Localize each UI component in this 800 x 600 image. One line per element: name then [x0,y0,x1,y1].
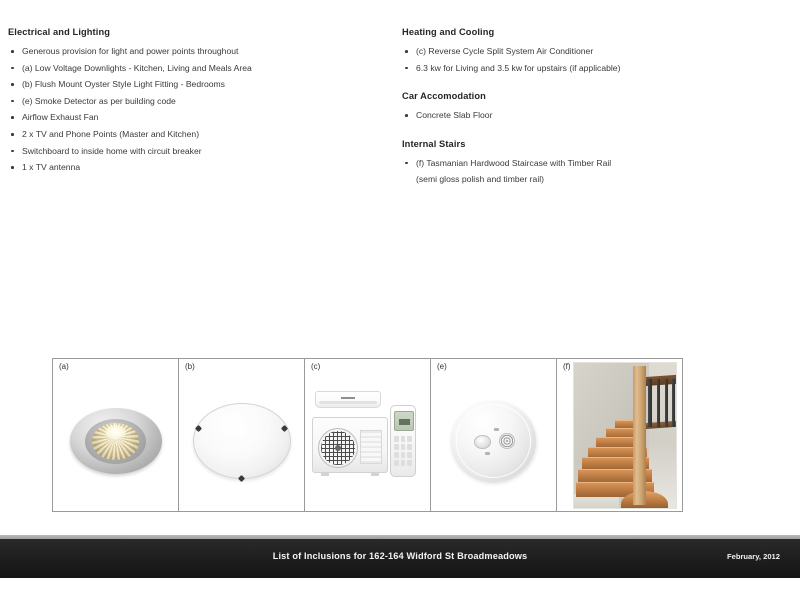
section-internal-stairs: Internal Stairs (f) Tasmanian Hardwood S… [402,138,732,188]
air-conditioner-image [305,359,430,511]
section-heating-and-cooling: Heating and Cooling (c) Reverse Cycle Sp… [402,26,732,76]
bullet-dot-icon [405,114,408,117]
smoke-detector-image [431,359,556,511]
condenser-foot [371,472,379,476]
condenser-vent-icon [360,430,382,464]
list-item-label: (f) Tasmanian Hardwood Staircase with Ti… [416,158,611,168]
oyster-light-image [179,359,304,511]
list-item-label: Concrete Slab Floor [416,110,492,120]
list-item: 6.3 kw for Living and 3.5 kw for upstair… [402,60,732,77]
list-item: Switchboard to inside home with circuit … [8,143,388,160]
section-heading: Heating and Cooling [402,26,732,39]
downlight-highlight [105,425,126,439]
bullet-dot-icon [11,133,14,136]
panel-oyster-light-fitting: (b) [179,359,305,511]
list-item: Concrete Slab Floor [402,107,732,124]
bullet-dot-icon [11,100,14,103]
remote-key [394,444,399,450]
bullet-dot-icon [11,67,14,70]
list-item-label: 1 x TV antenna [22,162,80,172]
downlight-fixture-icon [70,408,162,474]
list-item: (b) Flush Mount Oyster Style Light Fitti… [8,76,388,93]
panel-label: (e) [437,362,447,371]
panel-low-voltage-downlight: (a) [53,359,179,511]
list-item-label: Generous provision for light and power p… [22,46,238,56]
section-bullet-list: Concrete Slab Floor [402,107,732,124]
condenser-foot [321,472,329,476]
footer-title: List of Inclusions for 162-164 Widford S… [0,551,800,561]
panel-split-system-air-conditioner: (c) [305,359,431,511]
remote-control-icon [390,405,416,477]
section-heading: Internal Stairs [402,138,732,151]
remote-key [407,444,412,450]
left-column: Electrical and Lighting Generous provisi… [8,26,388,176]
bullet-dot-icon [405,162,408,165]
remote-key [394,436,399,442]
list-item-label: (b) Flush Mount Oyster Style Light Fitti… [22,79,225,89]
footer-date: February, 2012 [727,552,780,561]
section-heading: Car Accomodation [402,90,732,103]
list-item-label: 2 x TV and Phone Points (Master and Kitc… [22,129,199,139]
baluster [665,379,668,427]
brand-mark [341,397,355,399]
smoke-detector-led [485,452,490,455]
remote-key [401,436,406,442]
bullet-dot-icon [11,116,14,119]
remote-key [394,460,399,466]
panel-timber-staircase: (f) [557,359,682,511]
condenser-fan-grille-icon [318,428,358,468]
list-item-label: 6.3 kw for Living and 3.5 kw for upstair… [416,63,620,73]
smoke-detector-rim [456,404,532,478]
product-image-strip: (a) (b) [52,358,683,512]
section-bullet-list: (f) Tasmanian Hardwood Staircase with Ti… [402,155,732,188]
remote-key [401,460,406,466]
oyster-light-icon [193,403,291,479]
bullet-dot-icon [11,166,14,169]
list-item-label: (a) Low Voltage Downlights - Kitchen, Li… [22,63,252,73]
baluster [648,379,651,427]
bullet-dot-icon [405,67,408,70]
list-item: Generous provision for light and power p… [8,43,388,60]
list-item: 1 x TV antenna [8,159,388,176]
bullet-dot-icon [11,150,14,153]
list-item: (f) Tasmanian Hardwood Staircase with Ti… [402,155,732,188]
oyster-clip-icon [238,475,245,482]
section-bullet-list: Generous provision for light and power p… [8,43,388,176]
bullet-dot-icon [405,50,408,53]
remote-key [401,452,406,458]
panel-smoke-detector: (e) [431,359,557,511]
right-column: Heating and Cooling (c) Reverse Cycle Sp… [402,26,732,188]
remote-key [407,436,412,442]
list-item: (c) Reverse Cycle Split System Air Condi… [402,43,732,60]
downlight-image [53,359,178,511]
section-car-accomodation: Car Accomodation Concrete Slab Floor [402,90,732,124]
baluster [672,379,675,427]
panel-label: (c) [311,362,320,371]
staircase-photo [573,362,677,509]
remote-key [407,452,412,458]
list-item-label: Switchboard to inside home with circuit … [22,146,202,156]
list-item-label: (e) Smoke Detector as per building code [22,96,176,106]
indoor-head-unit-icon [315,391,381,408]
list-item: Airflow Exhaust Fan [8,109,388,126]
panel-label: (a) [59,362,69,371]
newel-post [633,366,646,505]
smoke-detector-led [494,428,499,431]
bullet-dot-icon [11,50,14,53]
footer-bar: List of Inclusions for 162-164 Widford S… [0,539,800,578]
smoke-detector-icon [452,401,536,481]
baluster [657,379,660,427]
remote-lcd-display [394,411,414,431]
bullet-dot-icon [11,83,14,86]
remote-key [401,444,406,450]
remote-key [407,460,412,466]
section-heading: Electrical and Lighting [8,26,388,39]
panel-label: (b) [185,362,195,371]
list-item: 2 x TV and Phone Points (Master and Kitc… [8,126,388,143]
smoke-detector-grille-icon [499,433,516,449]
list-item: (e) Smoke Detector as per building code [8,93,388,110]
list-item-label: Airflow Exhaust Fan [22,112,98,122]
section-electrical-and-lighting: Electrical and Lighting Generous provisi… [8,26,388,176]
remote-key [394,452,399,458]
outdoor-condenser-icon [312,417,388,473]
remote-keypad [394,436,412,468]
list-item-label: (c) Reverse Cycle Split System Air Condi… [416,46,593,56]
document-page: Electrical and Lighting Generous provisi… [0,0,800,600]
section-bullet-list: (c) Reverse Cycle Split System Air Condi… [402,43,732,76]
list-item-continuation: (semi gloss polish and timber rail) [416,171,732,188]
panel-label: (f) [563,362,571,371]
oyster-diffuser [193,403,291,479]
list-item: (a) Low Voltage Downlights - Kitchen, Li… [8,60,388,77]
